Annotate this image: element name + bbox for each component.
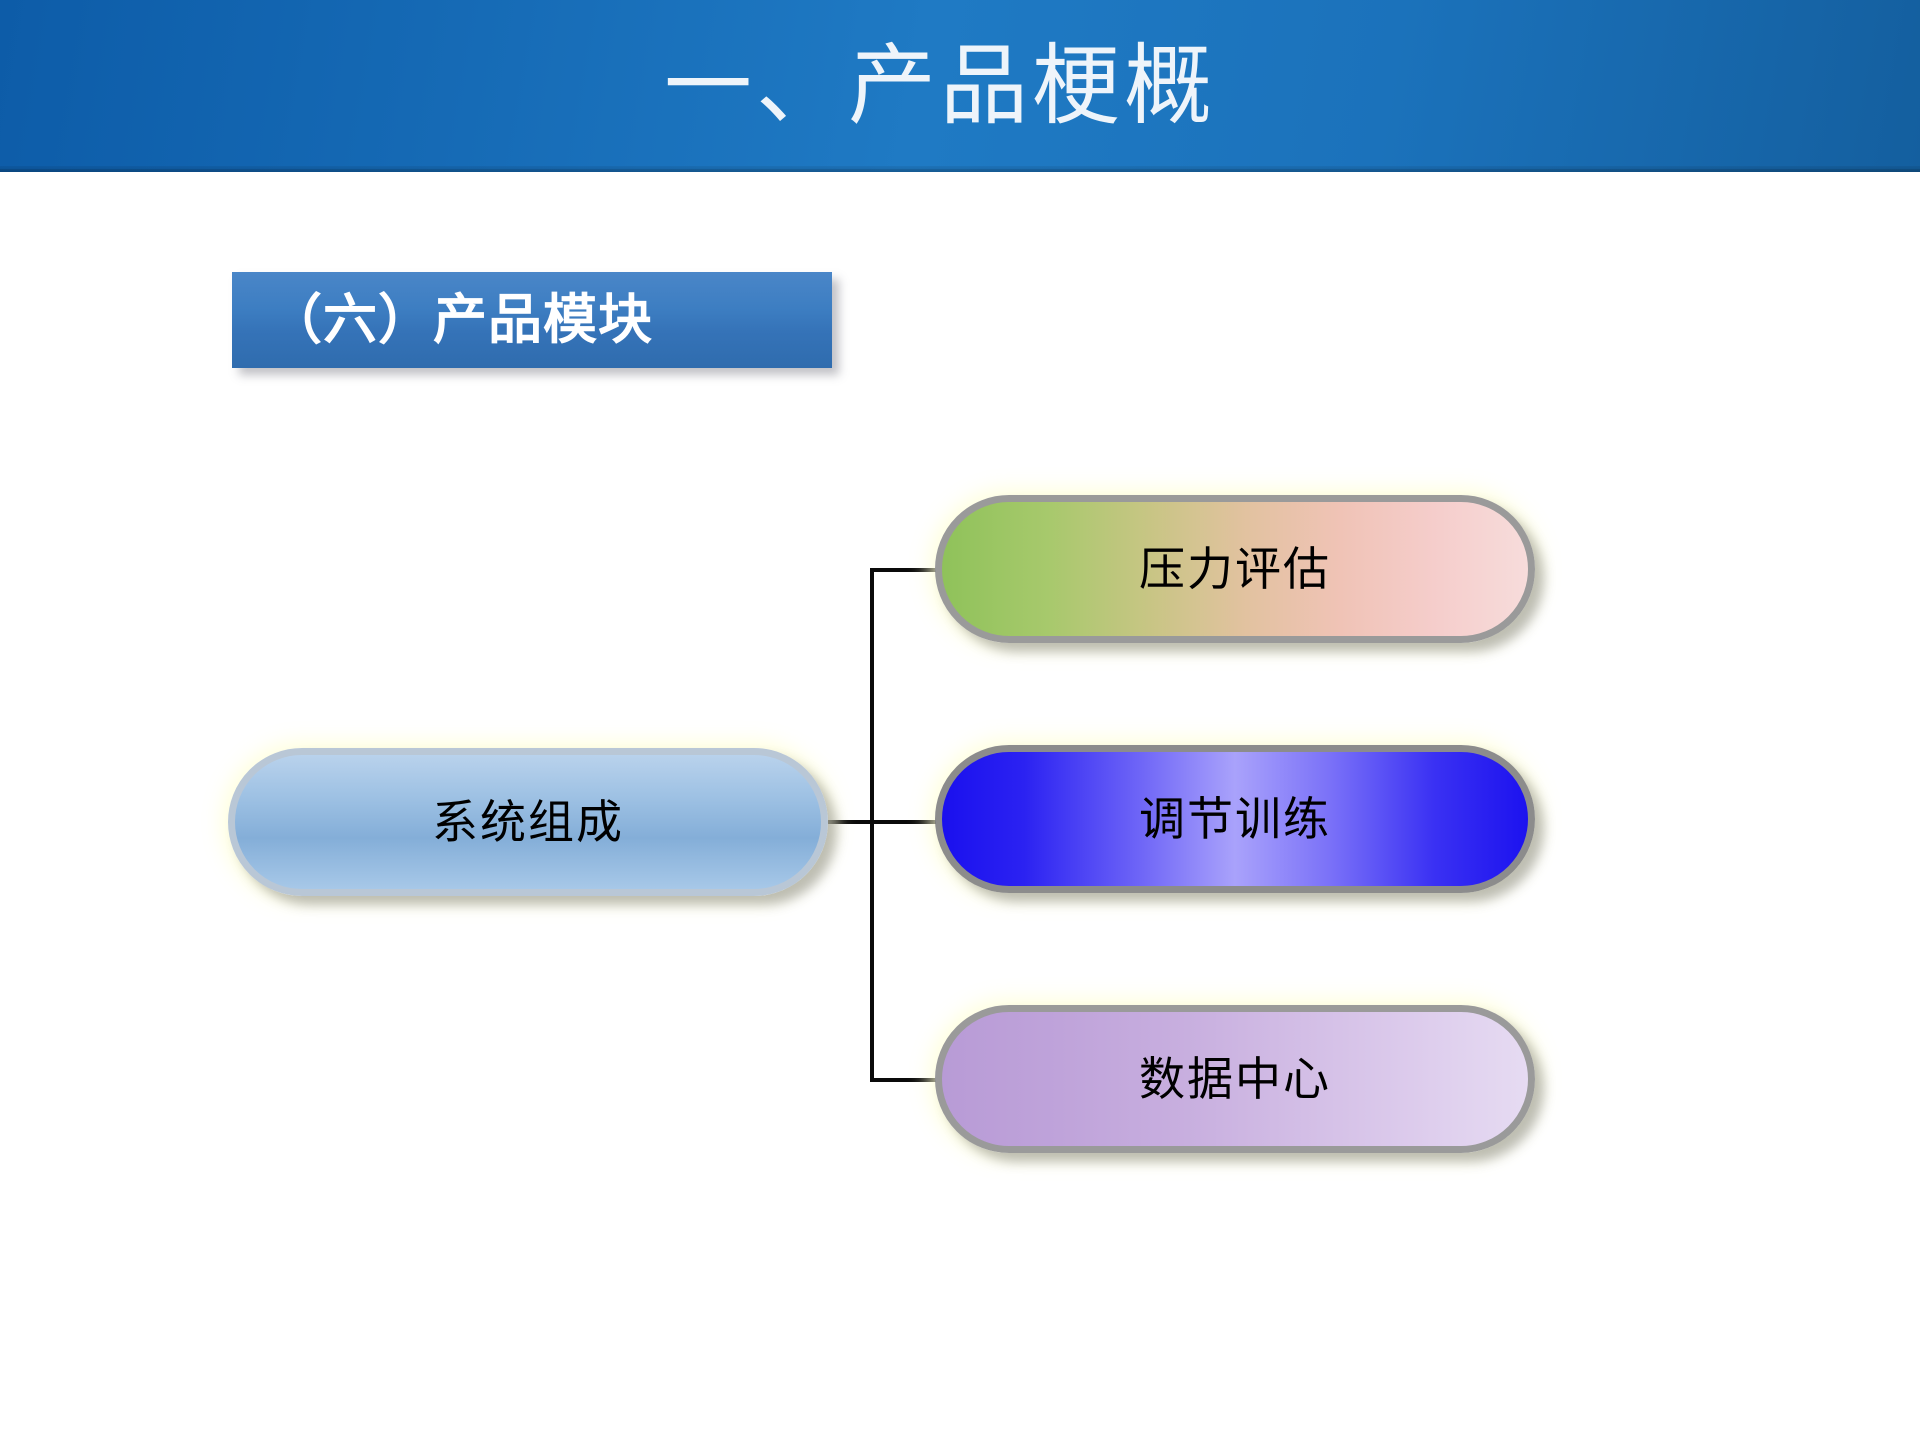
- diagram-node-label: 调节训练: [1139, 796, 1331, 842]
- diagram-node-label: 压力评估: [1139, 546, 1331, 592]
- connector-branch-data: [870, 1078, 940, 1082]
- connector-vertical-trunk: [870, 570, 874, 1082]
- product-module-diagram: 系统组成 压力评估 调节训练 数据中心: [0, 0, 1920, 1440]
- connector-branch-pressure: [870, 568, 940, 572]
- diagram-node-label: 数据中心: [1139, 1056, 1331, 1102]
- diagram-node-pressure-assessment[interactable]: 压力评估: [935, 495, 1535, 643]
- diagram-node-data-center[interactable]: 数据中心: [935, 1005, 1535, 1153]
- diagram-node-label: 系统组成: [432, 799, 624, 845]
- slide-canvas: 一、产品梗概 （六）产品模块 系统组成 压力评估 调节训练 数据中心: [0, 0, 1920, 1440]
- connector-branch-training: [870, 820, 940, 824]
- diagram-node-system-composition[interactable]: 系统组成: [228, 748, 828, 896]
- connector-root-stub: [828, 820, 874, 824]
- diagram-node-regulation-training[interactable]: 调节训练: [935, 745, 1535, 893]
